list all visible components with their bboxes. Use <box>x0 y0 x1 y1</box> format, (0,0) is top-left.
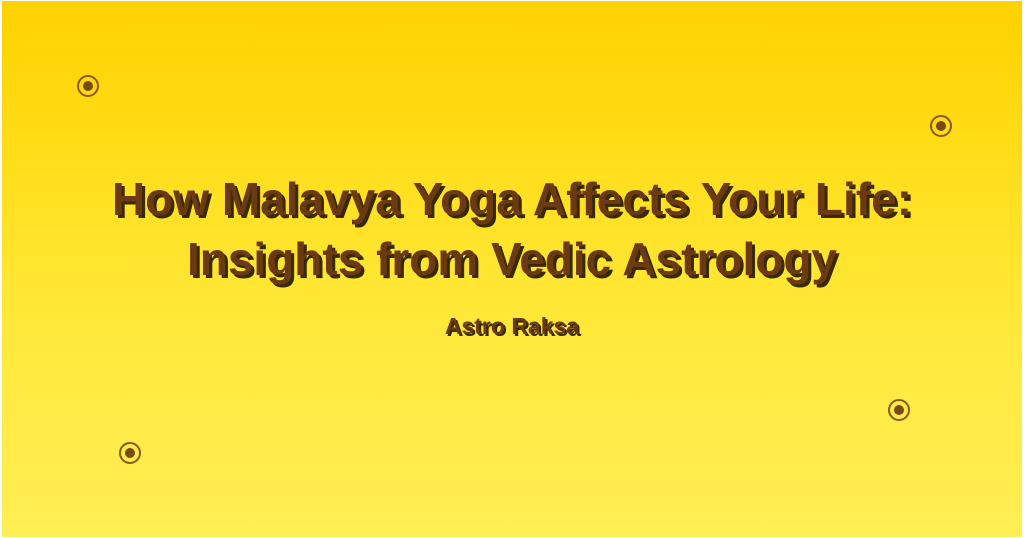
ring-dot-top-right-icon <box>930 115 952 137</box>
title-block: How Malavya Yoga Affects Your Life: Insi… <box>2 169 1022 340</box>
page-subtitle: Astro Raksa <box>445 313 579 340</box>
ring-dot-bottom-right-icon <box>888 399 910 421</box>
ring-dot-top-left-icon <box>77 75 99 97</box>
page-title: How Malavya Yoga Affects Your Life: Insi… <box>82 169 942 289</box>
title-slide: How Malavya Yoga Affects Your Life: Insi… <box>0 0 1024 538</box>
ring-dot-bottom-left-icon <box>119 442 141 464</box>
